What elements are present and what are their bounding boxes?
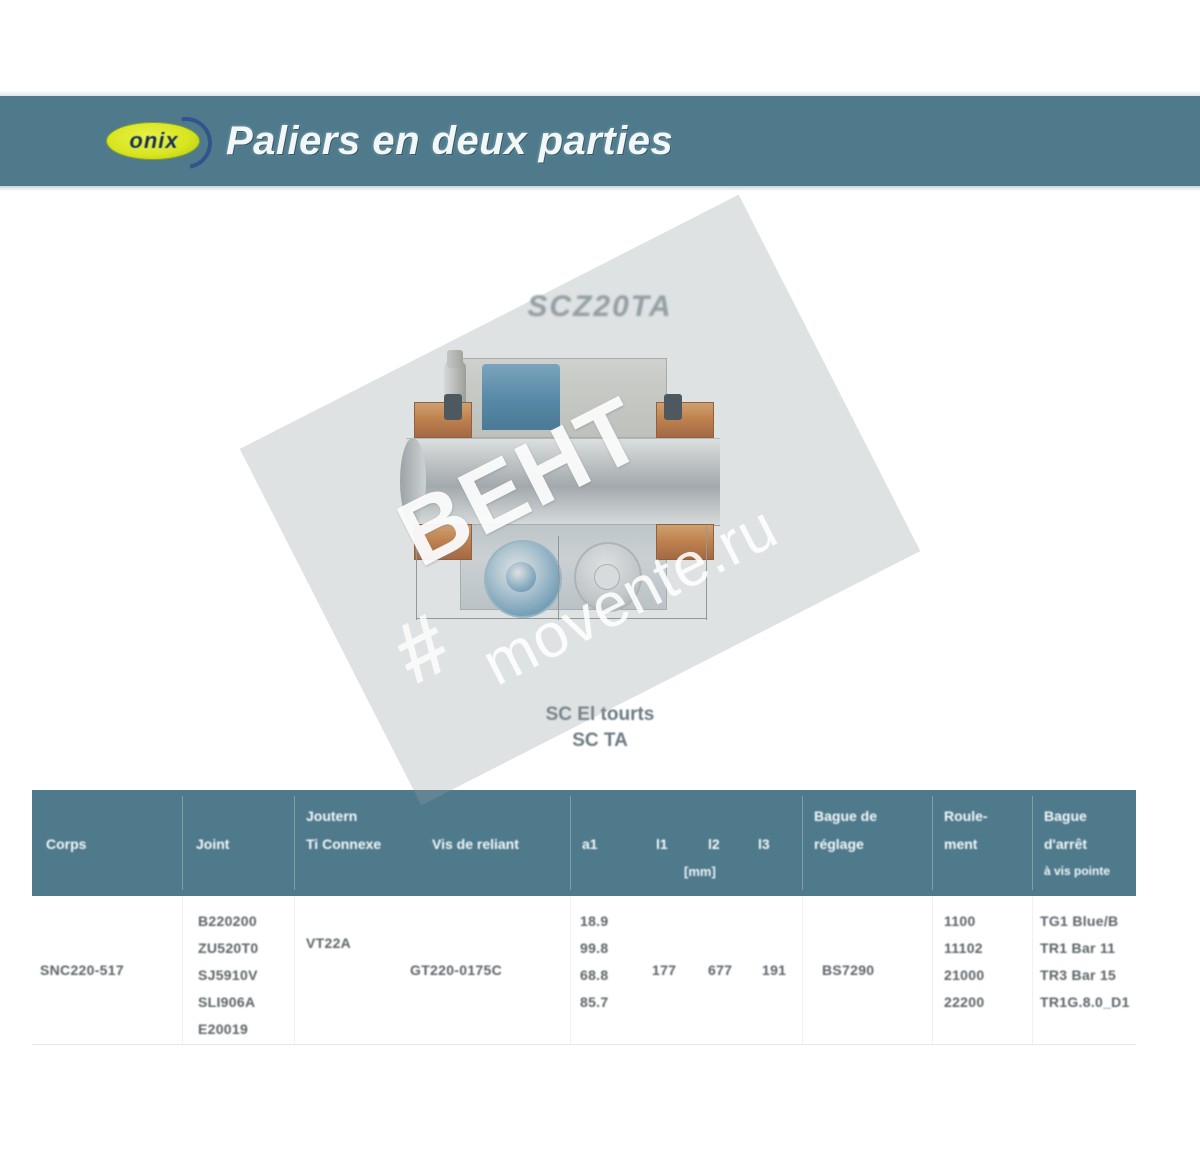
brand-logo: onix [104,119,204,163]
header-content: onix Paliers en deux parties [104,96,673,186]
cell-joint-5: E20019 [198,1016,248,1043]
cell-bague-reglage: BS7290 [822,962,874,978]
adapter-sleeve-bore [594,564,620,590]
shaft [406,438,720,526]
header-unit-mm: [mm] [684,864,716,879]
header-bague-arret-1: Bague [1044,808,1087,826]
header-dim-l1: l1 [656,836,668,854]
cell-joint-3: SJ5910V [198,962,258,989]
figure-caption: SC El tourts SC TA [0,702,1200,753]
cell-roulement-1: 1100 [944,908,976,935]
cell-roulement-3: 21000 [944,962,984,989]
cell-joint-2: ZU520T0 [198,935,258,962]
page-header-band: onix Paliers en deux parties [0,96,1200,186]
header-dim-l3: l3 [758,836,770,854]
seal-block-bottom-left [414,524,472,560]
bearing-inner-ring [506,562,536,592]
header-ti-connexe: Ti Connexe [306,836,381,854]
page-title: Paliers en deux parties [226,119,673,164]
grease-nipple-icon [447,350,463,368]
header-roulement-1: Roule- [944,808,988,826]
cell-a1-2: 99.8 [580,935,608,962]
seal-cap-left-icon [444,394,462,420]
cell-a1-1: 18.9 [580,908,608,935]
cell-corps: SNC220-517 [40,962,124,978]
cell-a1-4: 85.7 [580,989,608,1016]
cell-l1: 177 [652,962,676,978]
cell-roulement-2: 11102 [944,935,983,962]
header-bague-reglage-2: réglage [814,836,864,854]
dimension-line-left [416,526,417,620]
dimension-line-right [706,526,707,620]
seal-cap-right-icon [664,394,682,420]
header-group-joutern: Joutern [306,808,357,826]
cell-l3: 191 [762,962,786,978]
header-bague-reglage-1: Bague de [814,808,877,826]
logo-wordmark: onix [129,128,178,154]
header-bague-arret-3: à vis pointe [1044,864,1110,879]
figure-title: SCZ20TA [0,290,1200,324]
cell-joint-1: B220200 [198,908,257,935]
dimension-line-horizontal [416,618,706,619]
table-row: SNC220-517 B220200 ZU520T0 SJ5910V SLI90… [32,896,1136,1045]
cell-bague-arret-2: TR1 Bar 11 [1040,935,1115,962]
figure-caption-line-2: SC TA [0,728,1200,754]
cell-joint-type: VT22A [306,935,351,951]
cell-bague-arret-1: TG1 Blue/B [1040,908,1118,935]
cell-joint-4: SLI906A [198,989,255,1016]
cell-roulement-4: 22200 [944,989,984,1016]
header-roulement-2: ment [944,836,977,854]
bearing-cutaway-drawing [398,350,728,680]
cell-l2: 677 [708,962,732,978]
cell-bague-arret-4: TR1G.8.0_D1 [1040,989,1130,1016]
header-dim-a1: a1 [582,836,598,854]
header-joint: Joint [196,836,229,854]
shaft-end-face [400,438,426,524]
housing-cap-bore [482,364,560,430]
cell-vis: GT220-0175C [410,962,502,978]
specification-table: Corps Joint Joutern Ti Connexe Vis de re… [32,790,1136,1045]
header-dim-l2: l2 [708,836,720,854]
header-vis-de-reliant: Vis de reliant [432,836,519,854]
cell-bague-arret-3: TR3 Bar 15 [1040,962,1116,989]
catalog-page: onix Paliers en deux parties SCZ20TA [0,0,1200,1165]
header-corps: Corps [46,836,86,854]
dimension-line-center [558,536,559,620]
table-header-row: Corps Joint Joutern Ti Connexe Vis de re… [32,790,1136,896]
header-bague-arret-2: d'arrêt [1044,836,1087,854]
figure-area: SCZ20TA [0,250,1200,780]
figure-caption-line-1: SC El tourts [0,702,1200,728]
cell-a1-3: 68.8 [580,962,608,989]
seal-block-top-left [414,402,472,438]
